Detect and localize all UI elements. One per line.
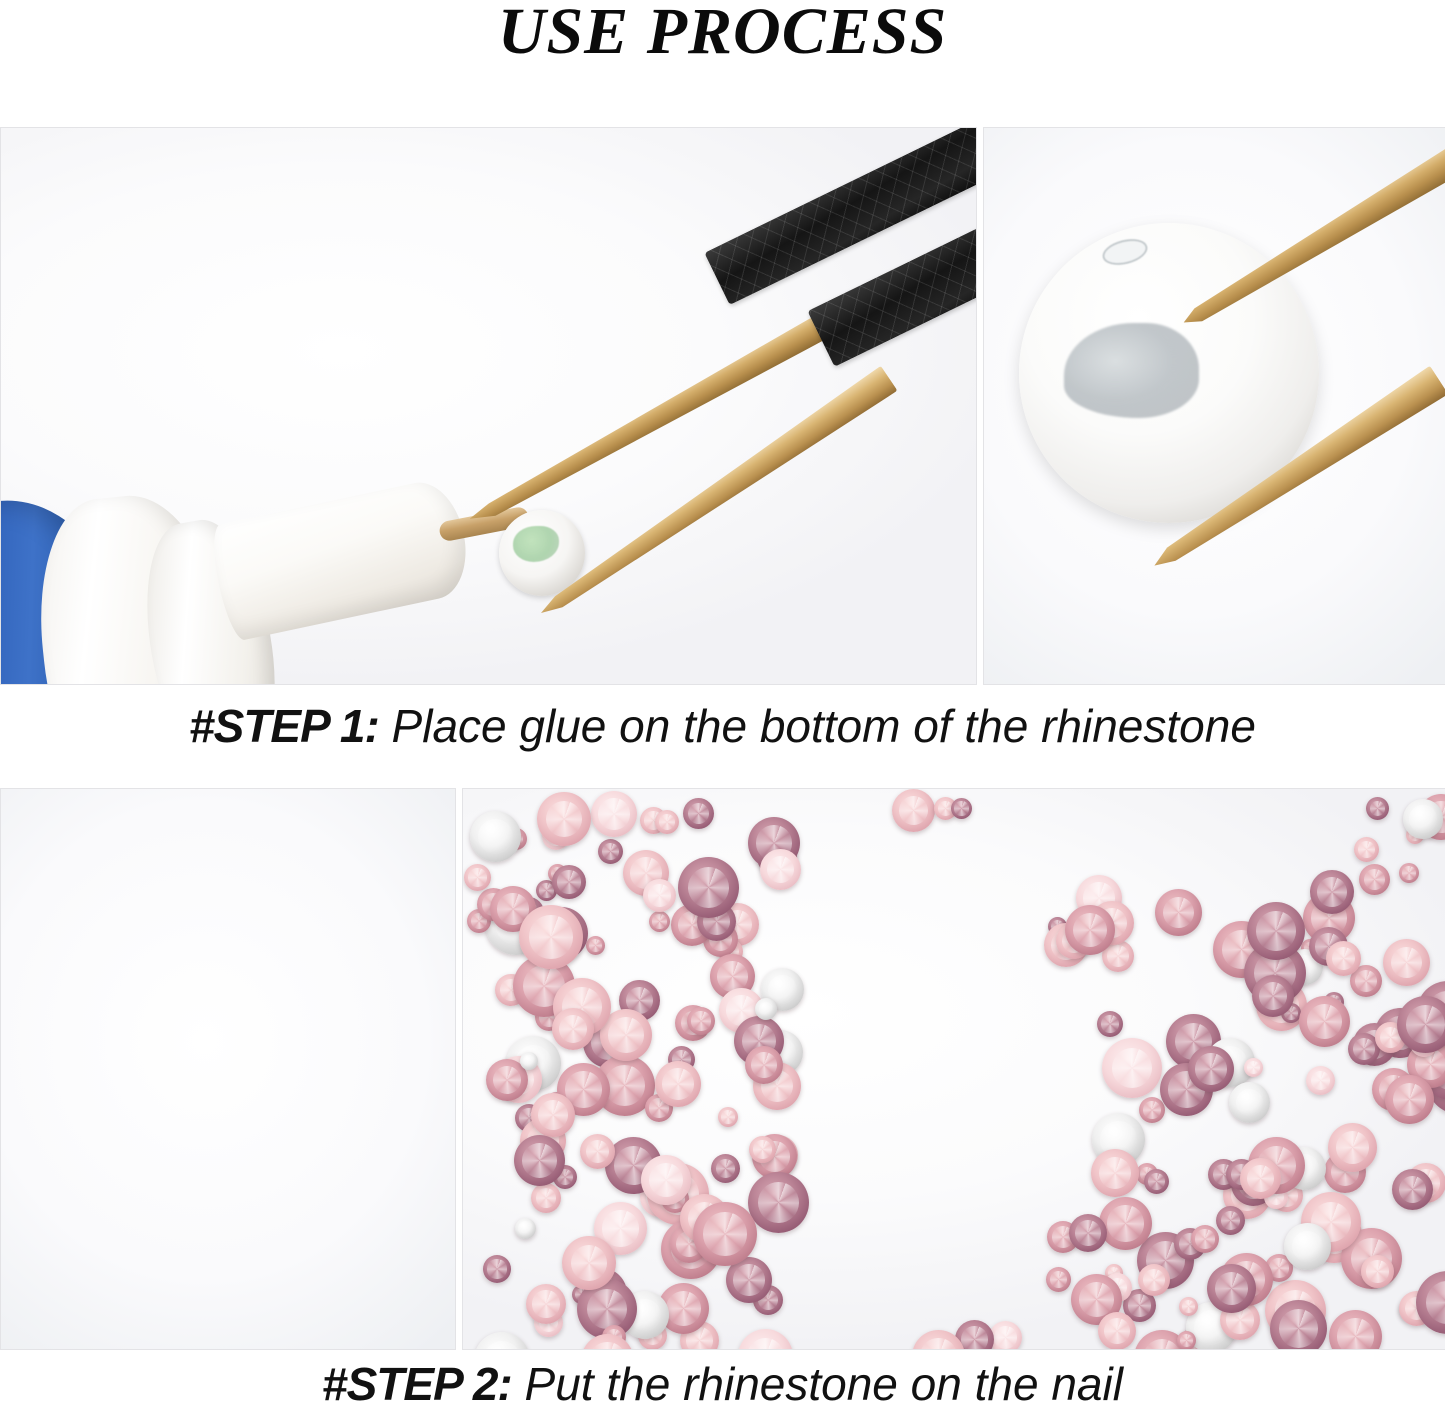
- decorated-nail-photo: [0, 788, 456, 1350]
- step-1-caption: #STEP 1: Place glue on the bottom of the…: [0, 698, 1445, 754]
- photo-backdrop: [1, 789, 455, 1349]
- step-2-caption: #STEP 2: Put the rhinestone on the nail: [0, 1356, 1445, 1412]
- step-1-tag: #STEP 1:: [189, 700, 379, 752]
- glue-blob: [1064, 323, 1199, 418]
- step-2-text: Put the rhinestone on the nail: [512, 1358, 1123, 1410]
- page-title: USE PROCESS: [0, 0, 1445, 68]
- step-1-image-row: [0, 127, 1445, 685]
- glue-application-photo: [0, 127, 977, 685]
- step-2-tag: #STEP 2:: [322, 1358, 512, 1410]
- use-process-infographic: USE PROCESS: [0, 0, 1445, 1412]
- step-2-image-row: [0, 788, 1445, 1350]
- step-1-text: Place glue on the bottom of the rhinesto…: [379, 700, 1256, 752]
- placing-rhinestone-photo: [462, 788, 1445, 1350]
- photo-backdrop: [463, 789, 1445, 1349]
- glue-closeup-photo: [983, 127, 1445, 685]
